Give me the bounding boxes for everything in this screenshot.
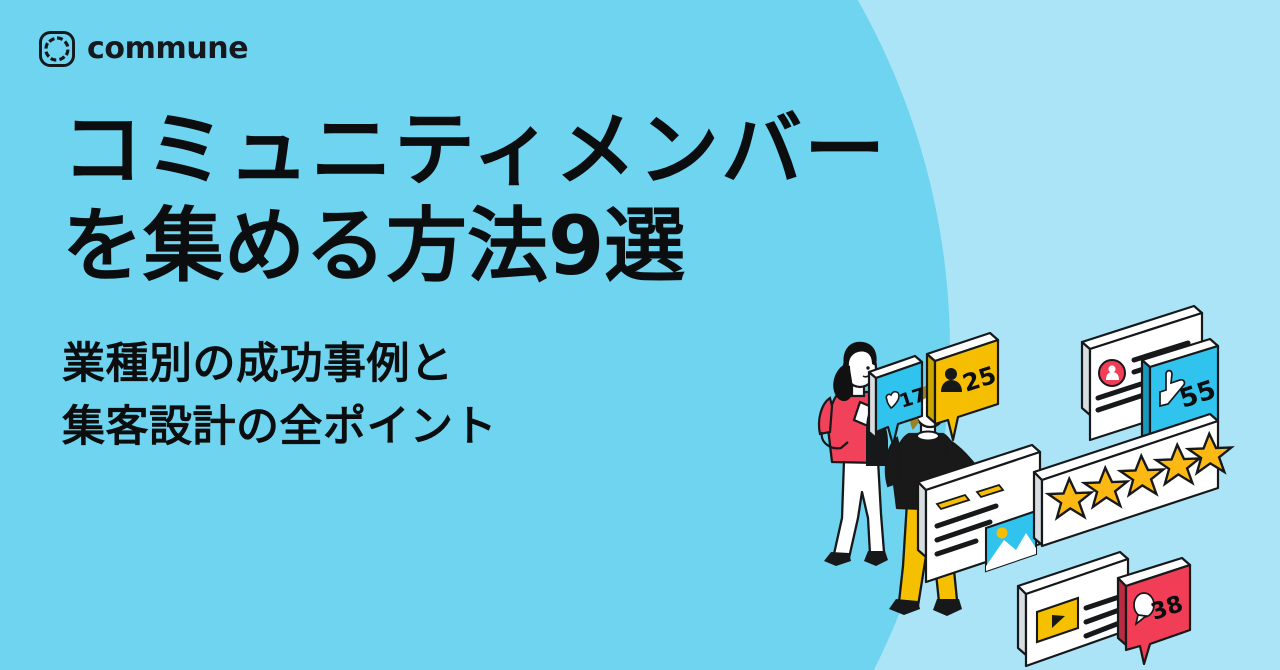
rating-card (1034, 414, 1232, 546)
brand-name: commune (87, 34, 248, 64)
subtitle-line-2: 集客設計の全ポイント (62, 396, 887, 459)
page-subtitle: 業種別の成功事例と 集客設計の全ポイント (62, 333, 887, 459)
page-title: コミュニティメンバー を集める方法9選 (62, 104, 887, 295)
members-badge: 25 (927, 333, 1000, 440)
headline-line-1: コミュニティメンバー (62, 104, 887, 200)
commune-dotted-circle-icon (38, 30, 76, 68)
headline-block: コミュニティメンバー を集める方法9選 業種別の成功事例と 集客設計の全ポイント (62, 104, 887, 460)
video-card (1018, 552, 1128, 666)
avatar-icon (1099, 360, 1125, 386)
banner-canvas: commune コミュニティメンバー を集める方法9選 業種別の成功事例と 集客… (0, 0, 1280, 670)
subtitle-line-1: 業種別の成功事例と (62, 333, 887, 396)
brand-logo: commune (38, 30, 248, 68)
headline-line-2: を集める方法9選 (62, 200, 887, 296)
comments-badge: 38 (1118, 558, 1190, 664)
